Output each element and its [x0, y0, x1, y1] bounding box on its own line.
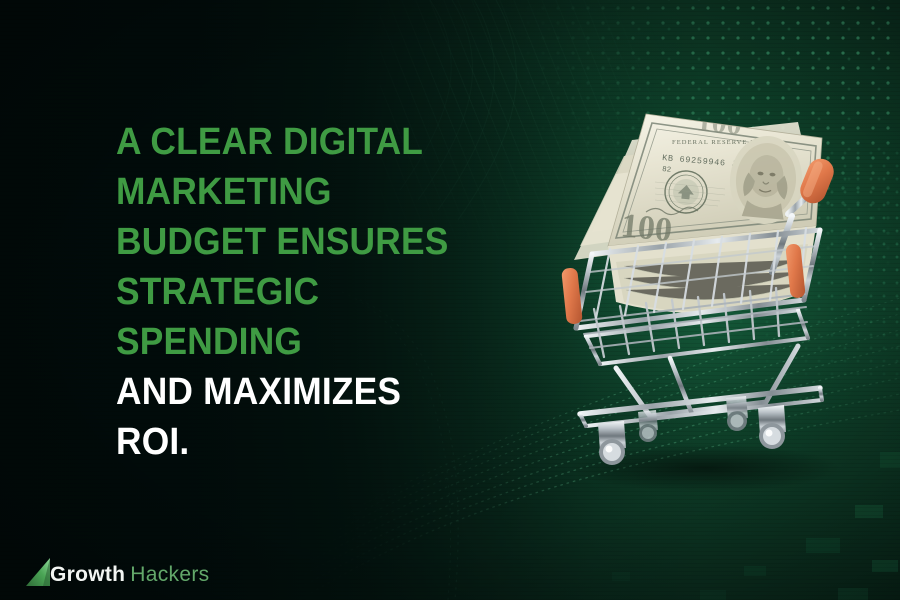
marketing-banner: FEDERAL RESERVE NOTE 100 KB 69259946 J 8…: [0, 0, 900, 600]
headline-line-7: ROI.: [116, 417, 516, 467]
headline-line-3: BUDGET ENSURES: [116, 217, 516, 267]
logo-word-growth: Growth: [50, 563, 125, 586]
headline-line-1: A CLEAR DIGITAL: [116, 117, 516, 167]
headline: A CLEAR DIGITAL MARKETING BUDGET ENSURES…: [116, 117, 516, 467]
logo-word-hackers: Hackers: [130, 563, 209, 586]
growth-hackers-logo[interactable]: GrowthHackers: [26, 554, 209, 588]
svg-text:100: 100: [695, 104, 743, 142]
headline-line-2: MARKETING: [116, 167, 516, 217]
svg-text:82: 82: [662, 166, 672, 175]
headline-line-6: AND MAXIMIZES: [116, 367, 516, 417]
banknote-stack: FEDERAL RESERVE NOTE 100 KB 69259946 J 8…: [574, 104, 822, 313]
shopping-cart-with-cash-image: FEDERAL RESERVE NOTE 100 KB 69259946 J 8…: [520, 96, 880, 496]
headline-line-5: SPENDING: [116, 317, 516, 367]
logo-wordmark: GrowthHackers: [50, 562, 209, 588]
headline-line-4: STRATEGIC: [116, 267, 516, 317]
cart-side-clip-left: [561, 267, 583, 324]
